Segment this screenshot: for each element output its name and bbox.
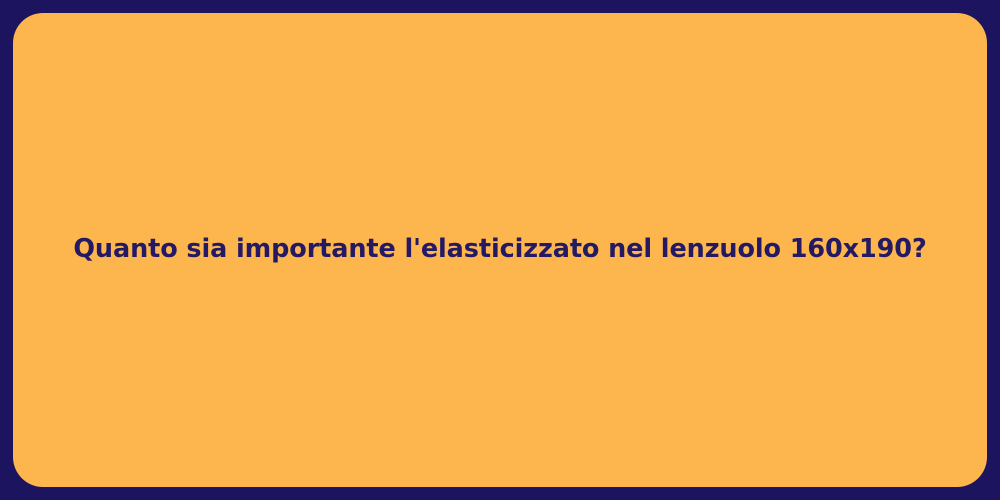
card-frame: Quanto sia importante l'elasticizzato ne… bbox=[0, 0, 1000, 500]
card-panel: Quanto sia importante l'elasticizzato ne… bbox=[13, 13, 987, 487]
headline-text: Quanto sia importante l'elasticizzato ne… bbox=[73, 234, 926, 266]
